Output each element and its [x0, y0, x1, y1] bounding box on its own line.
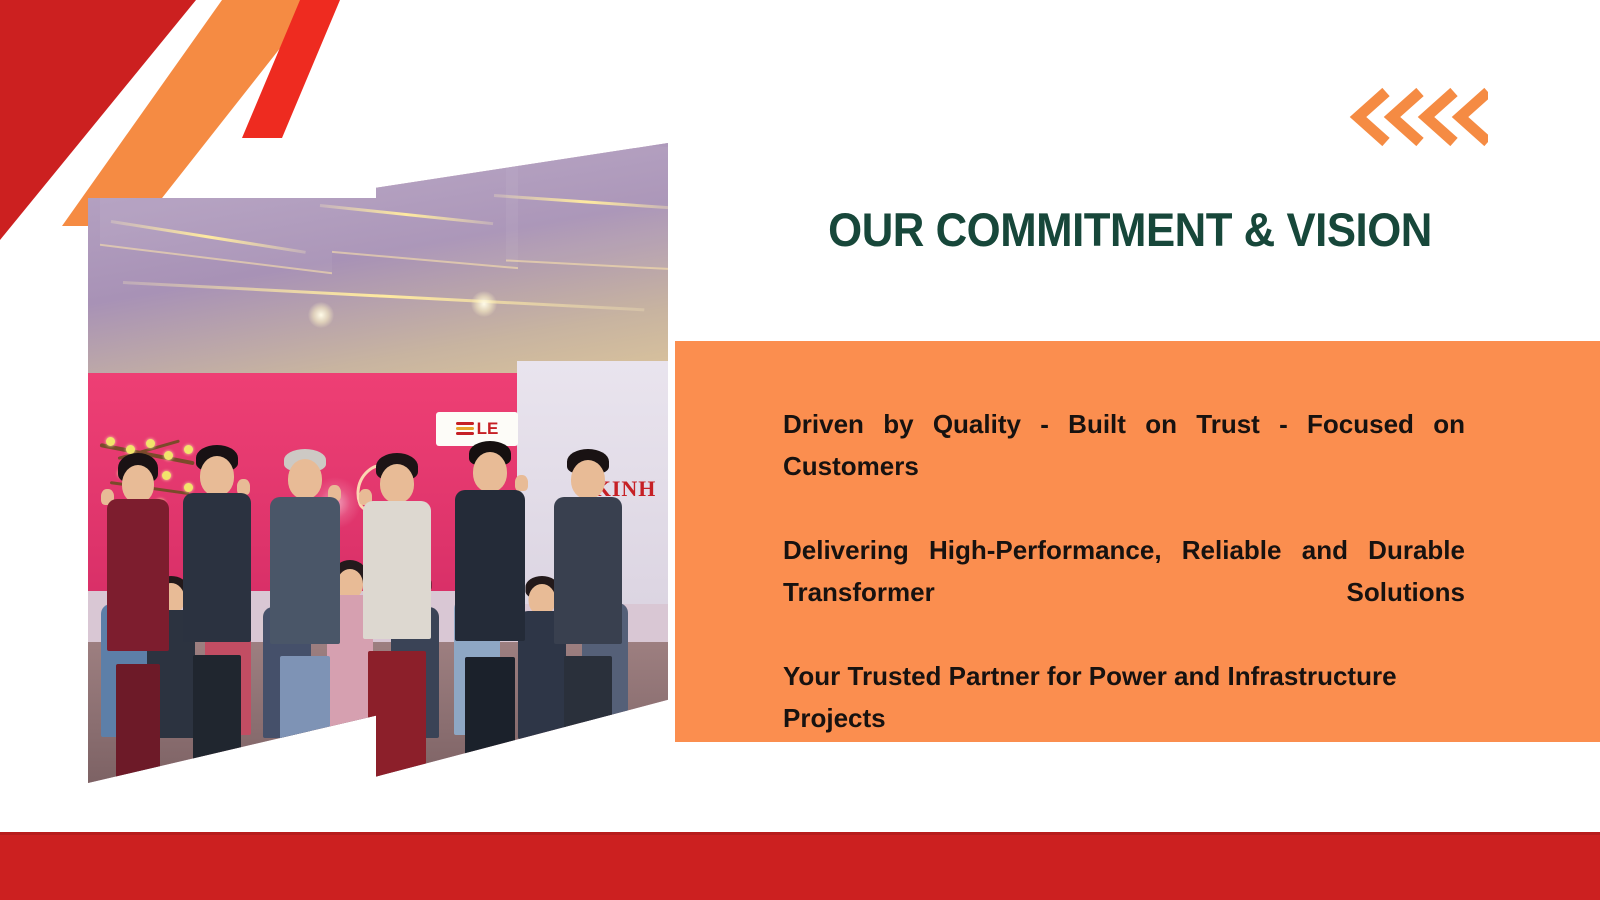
photo-scene: LE KINH	[88, 198, 388, 783]
chevron-left-icon	[1426, 92, 1454, 142]
body-line-3: Your Trusted Partner for Power and Infra…	[783, 655, 1465, 781]
slide-canvas: LE KINH	[0, 0, 1600, 900]
body-text-block: Driven by Quality - Built on Trust - Foc…	[783, 403, 1465, 781]
photo-panel-right: LE KINH	[376, 143, 668, 783]
group-photo-collage: LE KINH	[88, 143, 668, 783]
chevron-left-icon	[1392, 92, 1420, 142]
body-line-2: Delivering High-Performance, Reliable an…	[783, 529, 1465, 655]
page-title: OUR COMMITMENT & VISION	[786, 205, 1474, 254]
crowd-figures	[376, 399, 668, 783]
body-line-1: Driven by Quality - Built on Trust - Foc…	[783, 403, 1465, 529]
crowd-figures	[88, 399, 388, 783]
chevron-left-icon	[1460, 92, 1488, 142]
chevron-cluster	[1348, 86, 1488, 148]
chevron-left-icon	[1358, 92, 1386, 142]
photo-panel-left: LE KINH	[88, 198, 388, 783]
content-panel: Driven by Quality - Built on Trust - Foc…	[675, 341, 1600, 742]
bottom-bar	[0, 835, 1600, 900]
photo-scene: LE KINH	[376, 143, 668, 783]
